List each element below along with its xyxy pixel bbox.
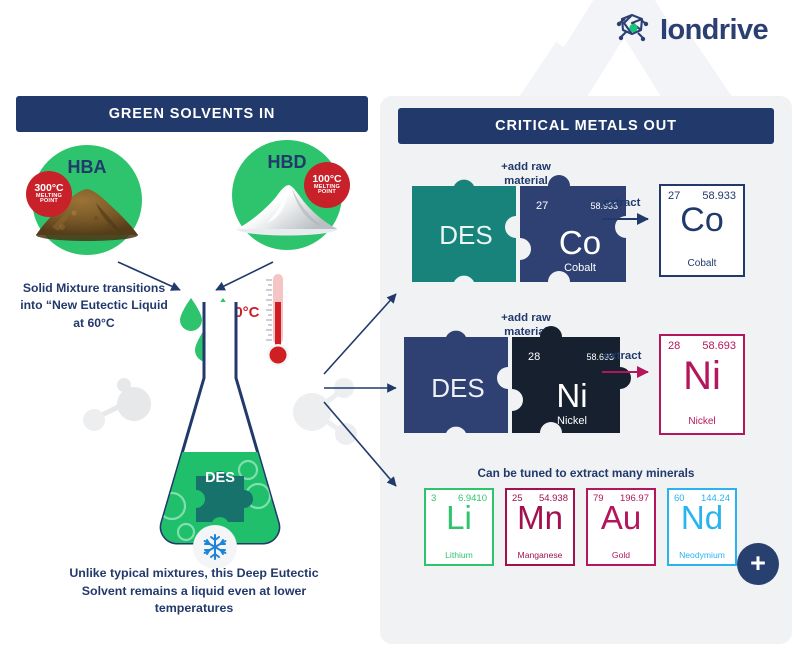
snowflake-icon (201, 533, 229, 561)
mixture-note-text: Solid Mixture transitions into “New Eute… (20, 281, 168, 330)
neodymium-card-name: Neodymium (669, 550, 735, 560)
brand-name: Iondrive (660, 14, 768, 47)
svg-text:DES: DES (439, 220, 492, 250)
lithium-element-card: 3 6.9410 Li Lithium (424, 488, 494, 566)
svg-text:Nickel: Nickel (557, 415, 587, 427)
mixture-note: Solid Mixture transitions into “New Eute… (18, 280, 170, 332)
svg-text:DES: DES (431, 373, 484, 403)
nickel-card-mass: 58.693 (702, 340, 736, 352)
green-solvents-band: GREEN SOLVENTS IN (16, 96, 368, 132)
svg-text:Cobalt: Cobalt (564, 262, 596, 274)
neodymium-element-card: 60 144.24 Nd Neodymium (667, 488, 737, 566)
green-solvents-title: GREEN SOLVENTS IN (109, 106, 276, 122)
cobalt-card-number: 27 (668, 190, 680, 202)
brand-logo[interactable]: Iondrive (612, 10, 768, 50)
gold-card-name: Gold (588, 550, 654, 560)
svg-text:27: 27 (536, 200, 548, 212)
flask-des-label: DES (190, 470, 250, 486)
erlenmeyer-flask (150, 300, 290, 560)
manganese-element-card: 25 54.938 Mn Manganese (505, 488, 575, 566)
nickel-extract-text: extract (604, 350, 641, 362)
lithium-card-symbol: Li (426, 501, 492, 536)
tuned-note-text: Can be tuned to extract many minerals (478, 466, 695, 480)
hba-melting-point-badge: 300°C MELTING POINT (26, 171, 72, 217)
molecule-atom-icon (612, 10, 652, 50)
hbd-component: HBD 100°C MELTING POINT (232, 140, 342, 250)
neodymium-card-symbol: Nd (669, 501, 735, 536)
hbd-badge-line2: POINT (318, 190, 336, 196)
hba-badge-line2: POINT (40, 199, 58, 205)
nickel-element-card: 28 58.693 Ni Nickel (659, 334, 745, 435)
manganese-card-symbol: Mn (507, 501, 573, 536)
critical-metals-title: CRITICAL METALS OUT (495, 118, 677, 134)
lithium-card-name: Lithium (426, 550, 492, 560)
plus-icon: + (750, 553, 766, 575)
cobalt-element-card: 27 58.933 Co Cobalt (659, 184, 745, 277)
snowflake-badge (193, 525, 237, 569)
gold-card-symbol: Au (588, 501, 654, 536)
cobalt-extract-label: extract (603, 197, 640, 209)
svg-text:Ni: Ni (556, 377, 587, 414)
nickel-card-symbol: Ni (661, 356, 743, 396)
cobalt-card-name: Cobalt (661, 258, 743, 269)
svg-text:Co: Co (559, 224, 601, 261)
bottom-note-text: Unlike typical mixtures, this Deep Eutec… (69, 566, 318, 615)
infographic-root: Iondrive GREEN SOLVENTS IN HBA (0, 0, 800, 653)
cobalt-extract-text: extract (603, 197, 640, 209)
cobalt-card-symbol: Co (661, 203, 743, 237)
tuned-note: Can be tuned to extract many minerals (400, 466, 772, 480)
manganese-card-name: Manganese (507, 550, 573, 560)
hba-component: HBA 300°C (32, 145, 142, 255)
nickel-card-name: Nickel (661, 416, 743, 427)
bottom-note: Unlike typical mixtures, this Deep Eutec… (48, 565, 340, 618)
cobalt-extract-arrow (600, 212, 656, 226)
critical-metals-band: CRITICAL METALS OUT (398, 108, 774, 144)
nickel-extract-label: extract (604, 350, 641, 362)
add-more-minerals-button[interactable]: + (737, 543, 779, 585)
nickel-extract-arrow (600, 365, 656, 379)
hbd-melting-point-badge: 100°C MELTING POINT (304, 162, 350, 208)
nickel-card-number: 28 (668, 340, 680, 352)
gold-element-card: 79 196.97 Au Gold (586, 488, 656, 566)
nickel-puzzle-pair: DES 28 58.693 Ni Nickel (400, 333, 640, 437)
molecule-decoration-left-icon (82, 378, 152, 438)
svg-text:28: 28 (528, 351, 540, 363)
branch-arrows (318, 276, 408, 506)
